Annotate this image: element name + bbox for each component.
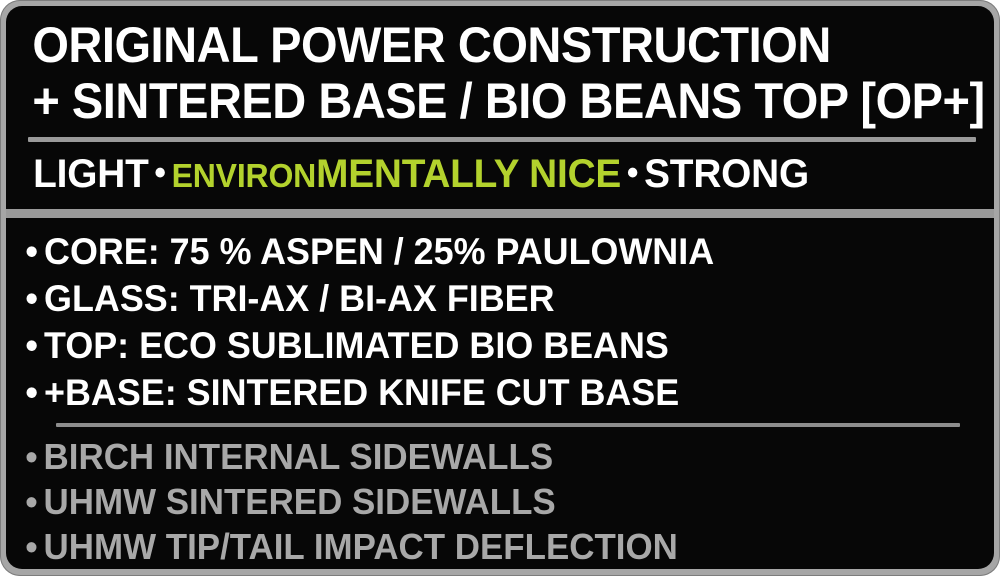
list-item: •UHMW TIP/TAIL IMPACT DEFLECTION bbox=[6, 529, 964, 565]
subtitle-attribute-light: LIGHT bbox=[33, 152, 148, 196]
product-title-line-2: + SINTERED BASE / BIO BEANS TOP [OP+] bbox=[6, 76, 935, 126]
primary-spec-text-2: TOP: ECO SUBLIMATED BIO BEANS bbox=[44, 325, 669, 366]
divider-subtitle-specs bbox=[6, 209, 994, 218]
bullet-icon: • bbox=[25, 484, 43, 520]
subtitle-eco-phrase: ENVIRONMENTALLY NICE bbox=[172, 152, 622, 196]
subtitle-attribute-strong: STRONG bbox=[644, 152, 809, 196]
secondary-spec-list: •BIRCH INTERNAL SIDEWALLS •UHMW SINTERED… bbox=[6, 427, 994, 565]
title-block: ORIGINAL POWER CONSTRUCTION + SINTERED B… bbox=[6, 6, 994, 126]
list-item: •CORE: 75 % ASPEN / 25% PAULOWNIA bbox=[6, 233, 964, 270]
bullet-icon: • bbox=[25, 529, 43, 565]
spec-panel: ORIGINAL POWER CONSTRUCTION + SINTERED B… bbox=[6, 6, 994, 569]
primary-spec-list: •CORE: 75 % ASPEN / 25% PAULOWNIA •GLASS… bbox=[6, 218, 994, 411]
list-item: •BIRCH INTERNAL SIDEWALLS bbox=[6, 439, 964, 475]
list-item: •GLASS: TRI-AX / BI-AX FIBER bbox=[6, 280, 964, 317]
secondary-spec-text-0: BIRCH INTERNAL SIDEWALLS bbox=[44, 436, 554, 477]
secondary-spec-text-2: UHMW TIP/TAIL IMPACT DEFLECTION bbox=[44, 526, 678, 567]
subtitle-eco-suffix: MENTALLY NICE bbox=[316, 152, 621, 196]
bullet-icon: • bbox=[25, 439, 43, 475]
list-item: •UHMW SINTERED SIDEWALLS bbox=[6, 484, 964, 520]
spec-card: ORIGINAL POWER CONSTRUCTION + SINTERED B… bbox=[0, 0, 1000, 576]
primary-spec-text-0: CORE: 75 % ASPEN / 25% PAULOWNIA bbox=[44, 231, 714, 272]
bullet-icon: • bbox=[25, 327, 44, 364]
secondary-spec-text-1: UHMW SINTERED SIDEWALLS bbox=[44, 481, 556, 522]
list-item: •TOP: ECO SUBLIMATED BIO BEANS bbox=[6, 327, 964, 364]
subtitle-separator-1: • bbox=[149, 154, 172, 192]
subtitle-separator-2: • bbox=[621, 154, 644, 192]
subtitle-attributes: LIGHT•ENVIRONMENTALLY NICE•STRONG bbox=[6, 142, 964, 194]
bullet-icon: • bbox=[25, 374, 44, 411]
product-title-line-1: ORIGINAL POWER CONSTRUCTION bbox=[6, 20, 935, 70]
subtitle-eco-prefix: ENVIRON bbox=[172, 157, 316, 194]
bullet-icon: • bbox=[25, 233, 44, 270]
bullet-icon: • bbox=[25, 280, 44, 317]
primary-spec-text-1: GLASS: TRI-AX / BI-AX FIBER bbox=[44, 278, 554, 319]
primary-spec-text-3: +BASE: SINTERED KNIFE CUT BASE bbox=[44, 372, 679, 413]
list-item: •+BASE: SINTERED KNIFE CUT BASE bbox=[6, 374, 964, 411]
